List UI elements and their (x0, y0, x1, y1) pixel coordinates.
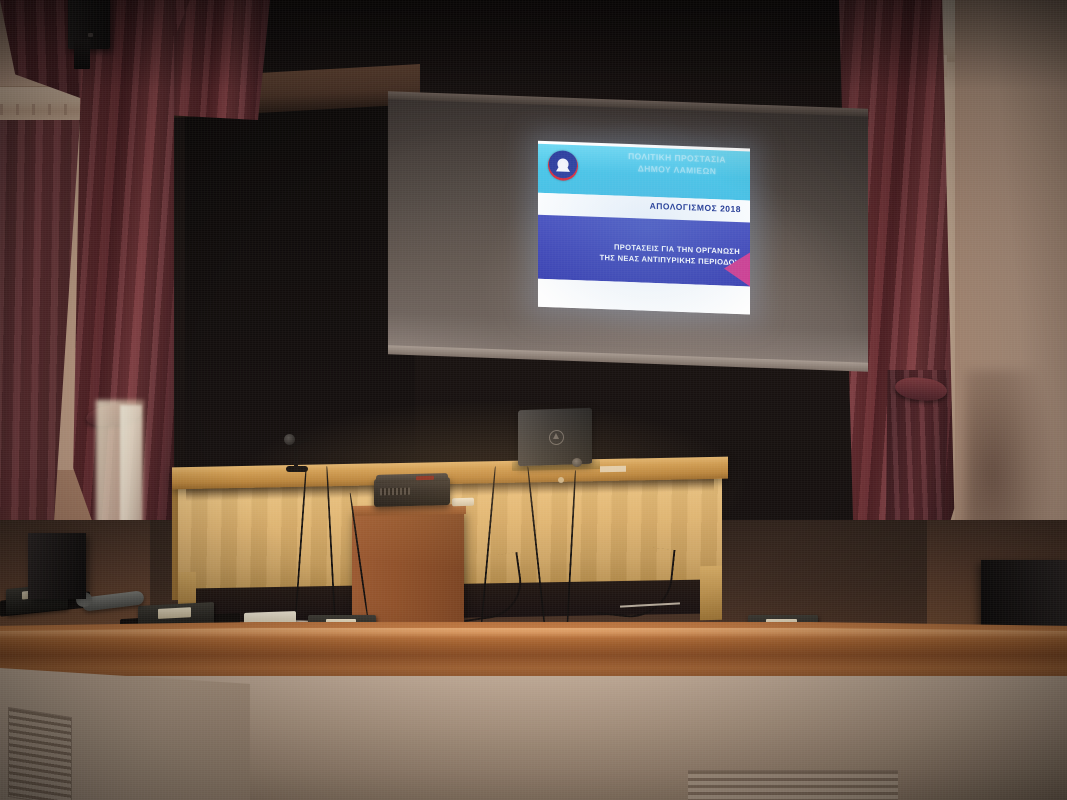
stage-lip-highlight (0, 628, 1067, 638)
presentation-slide: ΠΟΛΙΤΙΚΗ ΠΡΟΣΤΑΣΙΑ ΔΗΜΟΥ ΛΑΜΙΕΩΝ ΑΠΟΛΟΓΙ… (538, 141, 750, 315)
emblem-triangle (556, 159, 570, 172)
stage-backdrop-shadow (185, 100, 415, 520)
slide-header-text: ΠΟΛΙΤΙΚΗ ΠΡΟΣΤΑΣΙΑ ΔΗΜΟΥ ΛΑΜΙΕΩΝ (612, 149, 742, 178)
table-microphone-icon (284, 434, 295, 445)
vent-grille-left (8, 707, 72, 800)
projector-pad (452, 498, 474, 507)
laptop-logo-glyph (553, 433, 559, 439)
footlight-label (158, 607, 191, 619)
second-microphone-icon (572, 458, 582, 467)
projection-screen: ΠΟΛΙΤΙΚΗ ΠΡΟΣΤΑΣΙΑ ΔΗΜΟΥ ΛΑΜΙΕΩΝ ΑΠΟΛΟΓΙ… (388, 99, 868, 365)
wall-speaker-badge (88, 33, 93, 37)
slide-accent-triangle (724, 252, 750, 287)
table-leg-right (700, 566, 722, 620)
table-microphone-stand (294, 448, 298, 470)
civil-protection-emblem-icon (548, 150, 578, 181)
vent-grille-right (688, 770, 898, 800)
photo-scene: ΠΟΛΙΤΙΚΗ ΠΡΟΣΤΑΣΙΑ ΔΗΜΟΥ ΛΑΜΙΕΩΝ ΑΠΟΛΟΓΙ… (0, 0, 1067, 800)
projector-indicator (416, 476, 434, 480)
projector-vent (380, 488, 410, 496)
floor-speaker-left (28, 533, 86, 599)
pedestal (352, 509, 464, 626)
wall-speaker-grille (74, 39, 90, 69)
paper-sheet (600, 466, 626, 472)
curtain-valance-left (170, 0, 270, 120)
table-knob (558, 477, 564, 483)
